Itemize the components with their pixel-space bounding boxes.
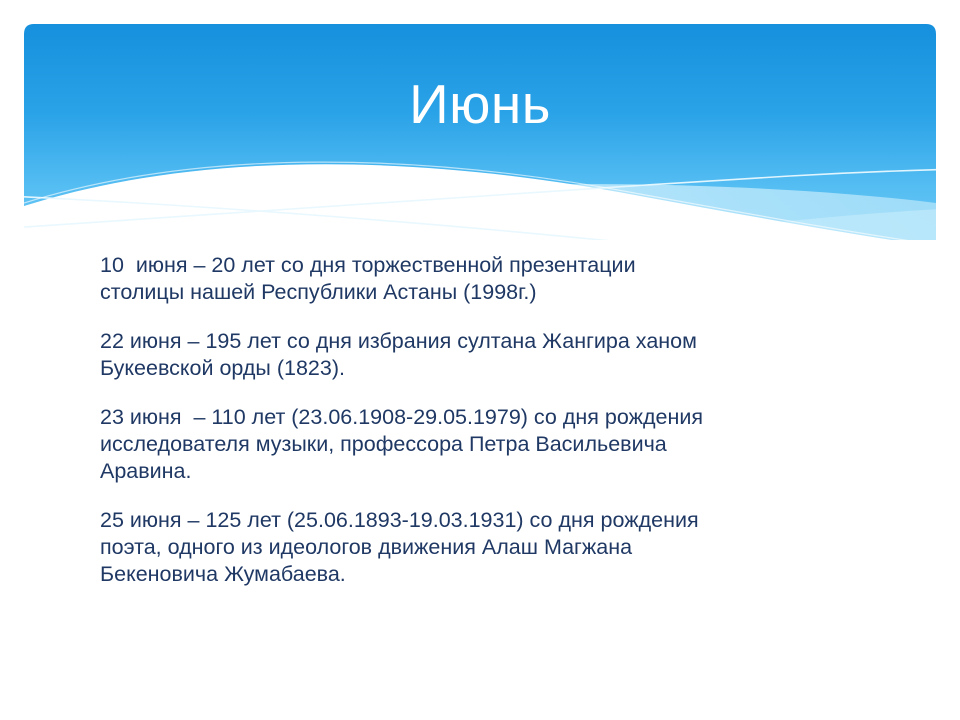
body-paragraph: 10 июня – 20 лет со дня торжественной пр…	[100, 252, 900, 306]
presentation-slide: Июнь 10 июня – 20 лет со дня торжественн…	[0, 0, 960, 720]
slide-header-banner: Июнь	[0, 0, 960, 260]
slide-body-content: 10 июня – 20 лет со дня торжественной пр…	[100, 252, 900, 588]
banner-graphic	[0, 0, 960, 260]
body-paragraph: 25 июня – 125 лет (25.06.1893-19.03.1931…	[100, 507, 900, 588]
body-paragraph: 22 июня – 195 лет со дня избрания султан…	[100, 328, 900, 382]
body-paragraph: 23 июня – 110 лет (23.06.1908-29.05.1979…	[100, 404, 900, 485]
banner-blue-field	[8, 24, 960, 260]
